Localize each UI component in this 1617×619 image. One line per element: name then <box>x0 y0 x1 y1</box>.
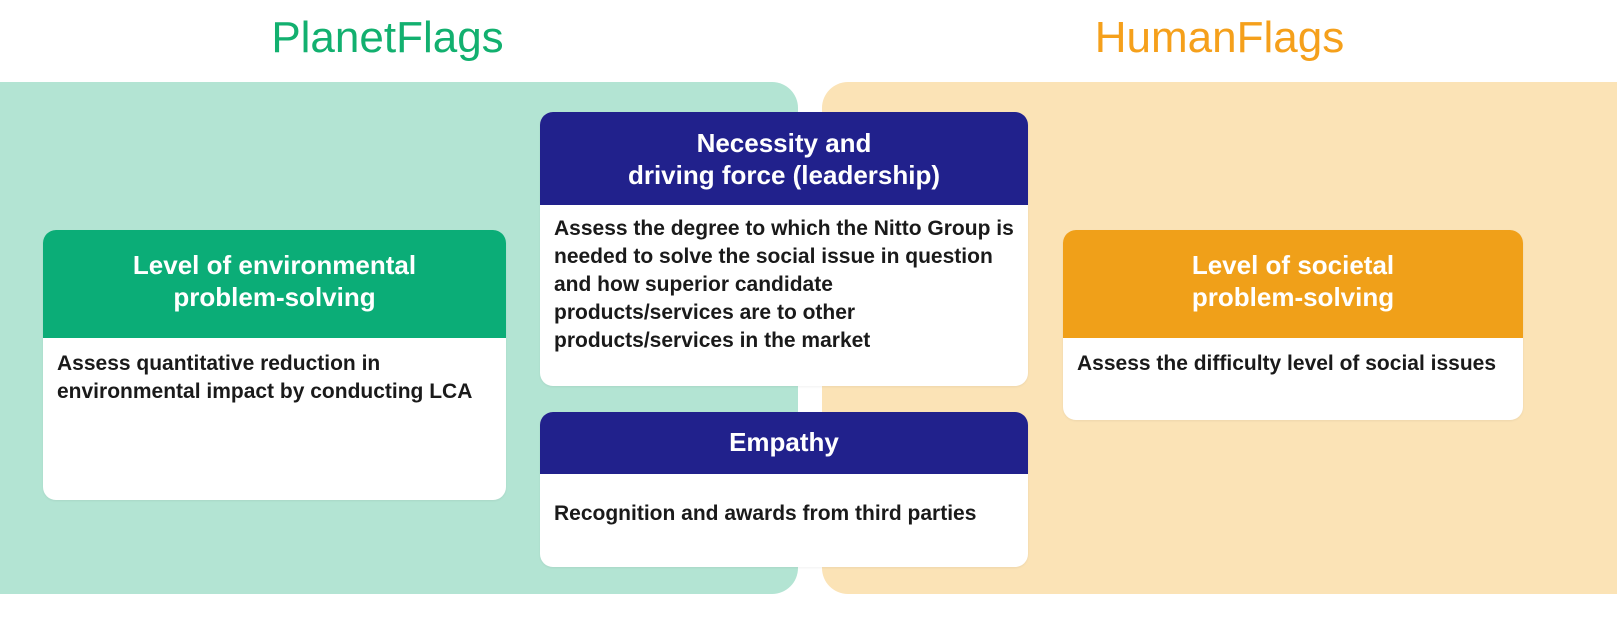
card-level-of-environmental-problem-solving: Level of environmental problem-solving A… <box>43 230 506 500</box>
card-body-necessity: Assess the degree to which the Nitto Gro… <box>540 205 1028 369</box>
card-title-line-1: Necessity and <box>552 128 1016 160</box>
card-body-societal: Assess the difficulty level of social is… <box>1063 338 1523 392</box>
card-level-of-societal-problem-solving: Level of societal problem-solving Assess… <box>1063 230 1523 420</box>
card-body-environmental: Assess quantitative reduction in environ… <box>43 338 506 420</box>
diagram-canvas: PlanetFlags HumanFlags Level of environm… <box>0 0 1617 619</box>
column-title-planetflags: PlanetFlags <box>0 16 775 60</box>
card-title-line-2: driving force (leadership) <box>552 160 1016 192</box>
card-title-line-1: Level of environmental <box>55 250 494 282</box>
card-title-line-2: problem-solving <box>1075 282 1511 314</box>
card-title-line-1: Level of societal <box>1075 250 1511 282</box>
card-body-empathy: Recognition and awards from third partie… <box>540 474 1028 542</box>
column-title-humanflags: HumanFlags <box>822 16 1617 60</box>
card-header-empathy: Empathy <box>540 412 1028 474</box>
card-necessity-and-driving-force: Necessity and driving force (leadership)… <box>540 112 1028 386</box>
card-header-societal: Level of societal problem-solving <box>1063 230 1523 338</box>
card-empathy: Empathy Recognition and awards from thir… <box>540 412 1028 567</box>
card-header-environmental: Level of environmental problem-solving <box>43 230 506 338</box>
card-header-necessity: Necessity and driving force (leadership) <box>540 112 1028 205</box>
card-title-line-2: problem-solving <box>55 282 494 314</box>
card-title-line-1: Empathy <box>552 427 1016 459</box>
